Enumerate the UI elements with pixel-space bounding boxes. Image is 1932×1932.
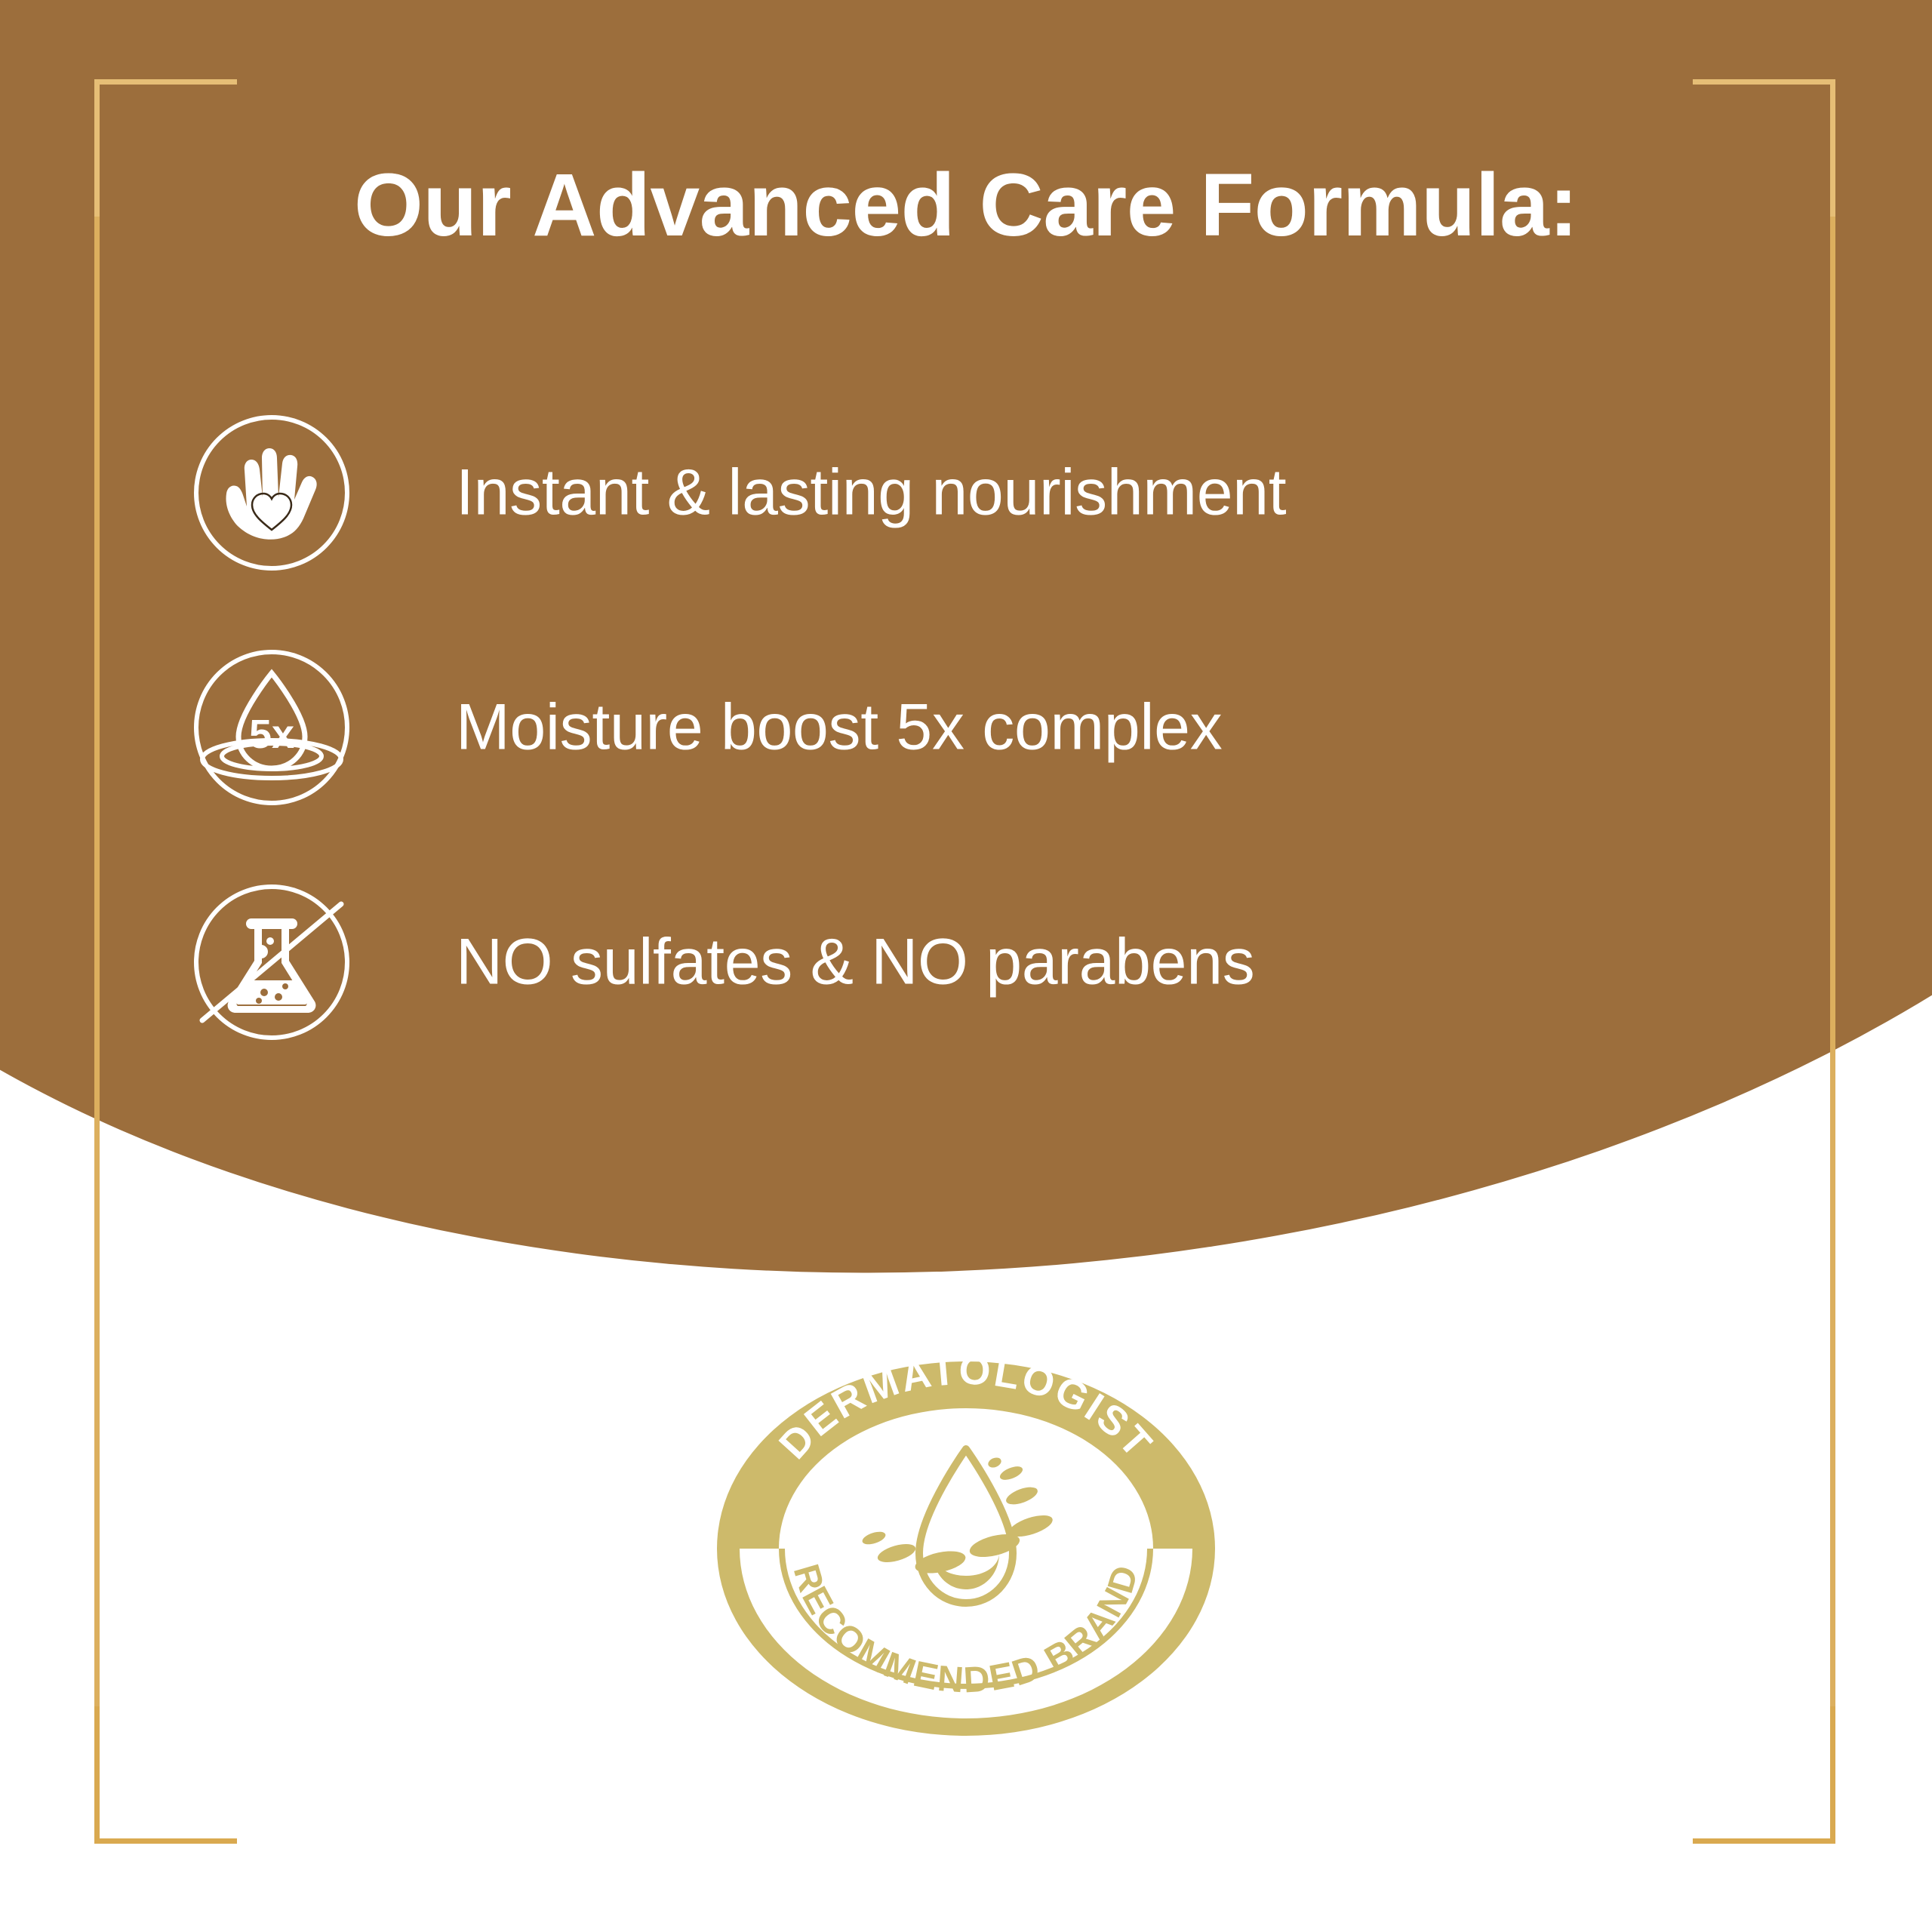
frame-corner-bottom-left	[94, 1701, 237, 1844]
frame-corner-bottom-right	[1693, 1701, 1835, 1844]
benefit-label: NO sulfates & NO parabens	[456, 924, 1254, 999]
benefit-label: Instant & lasting nourishment	[456, 455, 1286, 530]
list-item: 5x Moisture boost 5x complex	[0, 610, 1932, 844]
list-item: NO sulfates & NO parabens	[0, 844, 1932, 1079]
dermatologist-recommended-badge: DERMATOLOGIST RECOMMENDED BRAND	[714, 1351, 1218, 1736]
promo-graphic: Our Advanced Care Formula: Instant & las…	[0, 0, 1932, 1932]
benefit-label: Moisture boost 5x complex	[456, 690, 1222, 764]
benefit-list: Instant & lasting nourishment 5x Moistur…	[0, 375, 1932, 1079]
list-item: Instant & lasting nourishment	[0, 375, 1932, 610]
page-title: Our Advanced Care Formula:	[0, 161, 1932, 250]
drop-multiplier-label: 5x	[249, 712, 294, 757]
hand-heart-icon	[192, 413, 352, 573]
no-flask-icon	[192, 882, 352, 1042]
water-drop-5x-icon: 5x	[192, 648, 352, 808]
